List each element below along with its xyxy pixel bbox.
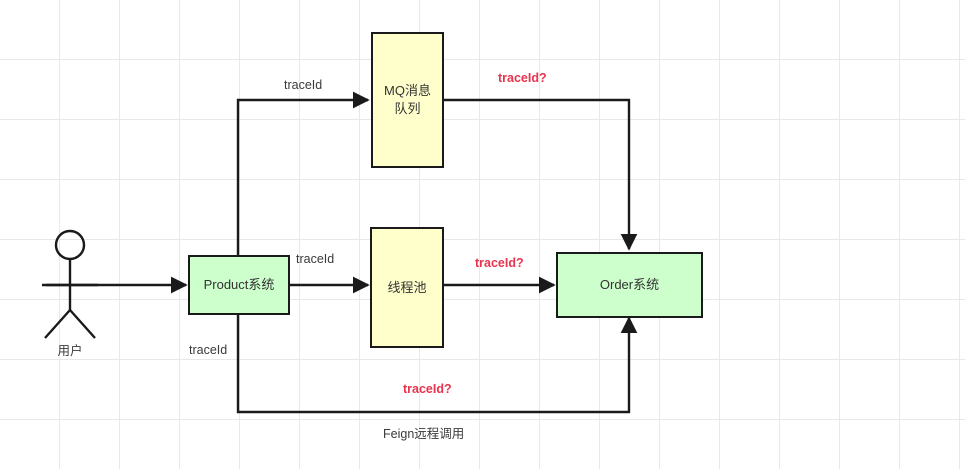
edge-label-product-to-mq: traceId (284, 78, 322, 92)
node-thread-pool[interactable]: 线程池 (370, 227, 444, 348)
edge-mq-to-order (444, 100, 629, 249)
edge-product-to-mq (238, 100, 368, 255)
connector-layer (0, 0, 965, 469)
edge-label-mq-to-order: traceId? (498, 71, 547, 85)
edge-label-product-to-feign: traceId (189, 343, 227, 357)
edge-label-pool-to-order: traceId? (475, 256, 524, 270)
diagram-canvas: 用户 MQ消息 队列 Product系统 线程池 Order系统 traceId… (0, 0, 965, 469)
node-product-system[interactable]: Product系统 (188, 255, 290, 315)
node-order-system[interactable]: Order系统 (556, 252, 703, 318)
edge-label-product-to-pool: traceId (296, 252, 334, 266)
edge-label-feign-to-order: traceId? (403, 382, 452, 396)
caption-feign-remote-call: Feign远程调用 (383, 423, 464, 442)
stick-figure-icon (42, 231, 98, 338)
actor-label-user: 用户 (40, 340, 100, 359)
node-mq-queue[interactable]: MQ消息 队列 (371, 32, 444, 168)
